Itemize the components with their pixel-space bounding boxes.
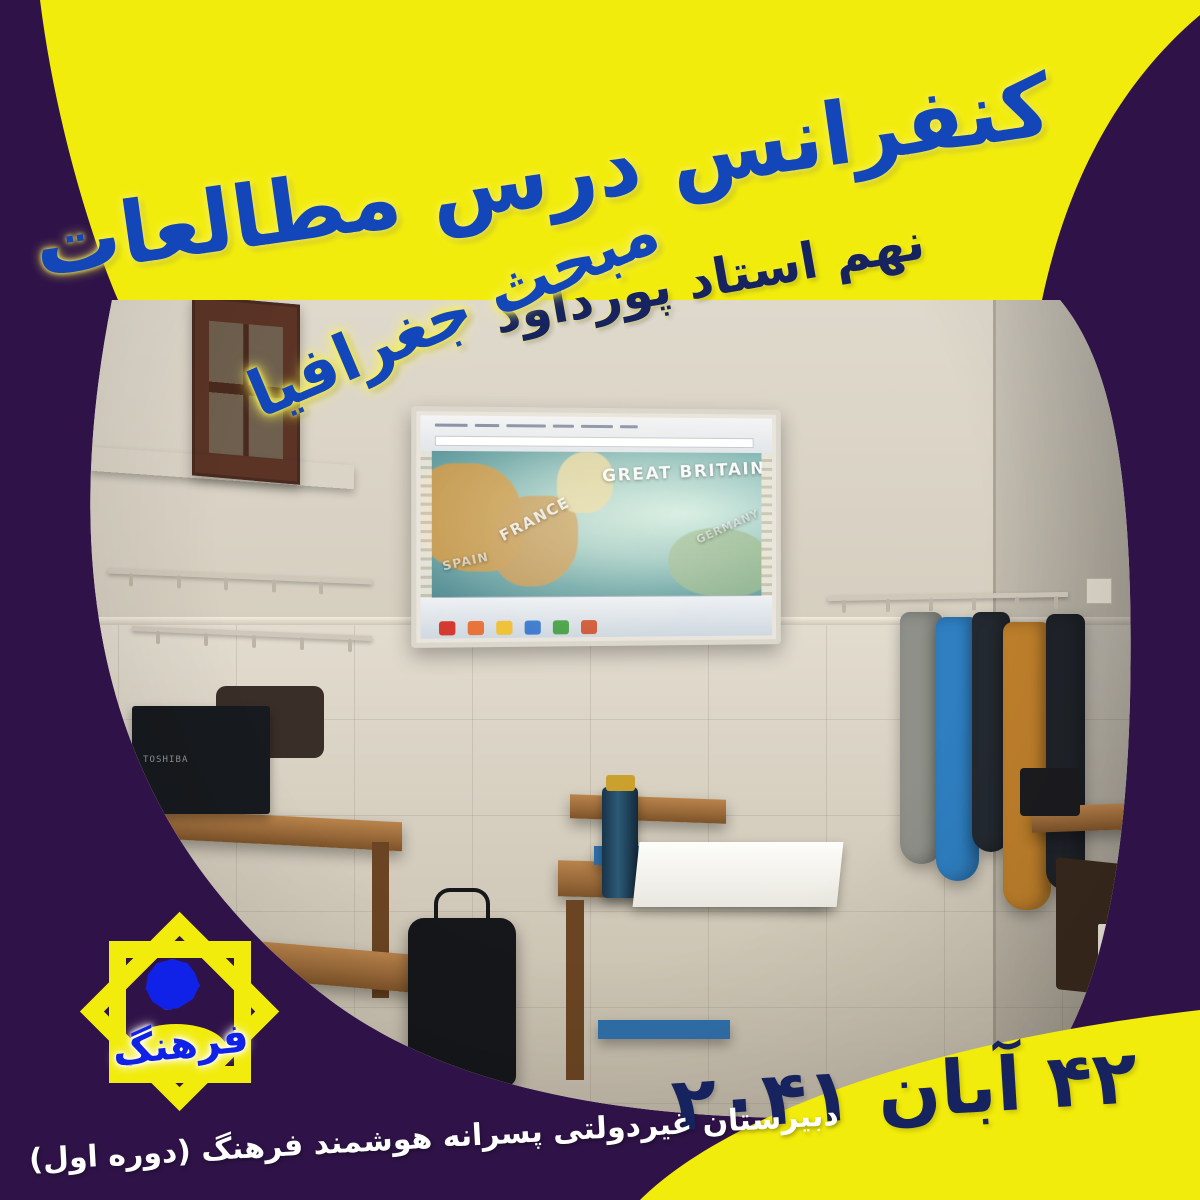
paper-scrap (1134, 948, 1165, 972)
poster-canvas: GREAT BRITAIN FRANCE SPAIN GERMANY (0, 0, 1200, 1200)
eight-point-star-icon (82, 914, 278, 1110)
school-logo: فرهنگ (82, 914, 278, 1110)
